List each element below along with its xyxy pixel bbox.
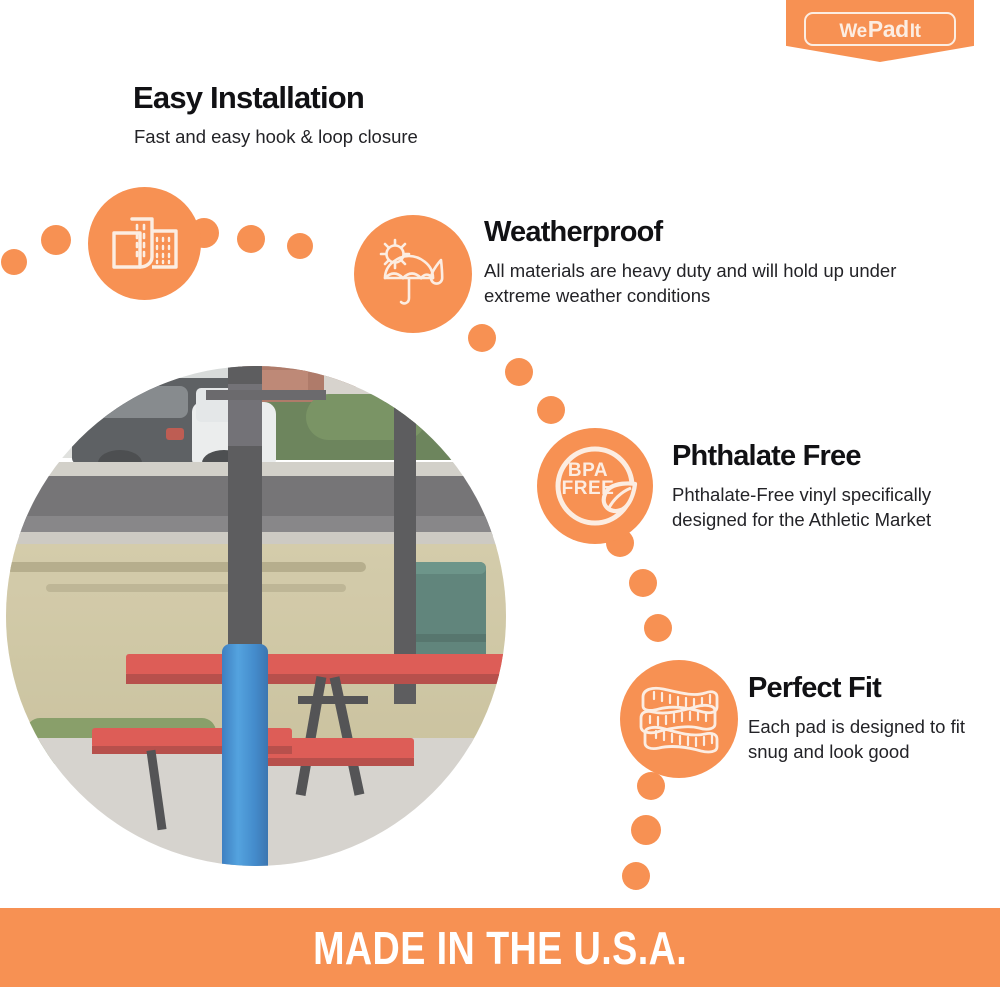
feature-description-weatherproof: All materials are heavy duty and will ho… <box>484 258 904 308</box>
connector-dot <box>637 772 665 800</box>
connector-dot <box>644 614 672 642</box>
infographic-root: We Pad It Easy Installation Fast and eas… <box>0 0 1000 987</box>
connector-dot <box>237 225 265 253</box>
made-in-usa-banner: MADE IN THE U.S.A. <box>0 908 1000 987</box>
logo-text-we: We <box>839 21 866 43</box>
product-photo-pole-pad <box>6 366 506 866</box>
made-in-usa-text: MADE IN THE U.S.A. <box>313 921 687 975</box>
logo-text-pad: Pad <box>868 16 909 43</box>
connector-dot <box>622 862 650 890</box>
bpa-icon-label: BPA FREE <box>549 462 627 499</box>
connector-dot <box>631 815 661 845</box>
connector-dot <box>287 233 313 259</box>
logo-wordmark: We Pad It <box>839 16 920 43</box>
brand-logo[interactable]: We Pad It <box>786 0 974 62</box>
connector-dot <box>468 324 496 352</box>
connector-dot <box>41 225 71 255</box>
connector-dot <box>629 569 657 597</box>
connector-dot <box>505 358 533 386</box>
feature-title-easy-installation: Easy Installation <box>133 80 364 116</box>
feature-description-phthalate-free: Phthalate-Free vinyl specifically design… <box>672 482 940 532</box>
feature-icon-perfect-fit <box>620 660 738 778</box>
logo-text-it: It <box>910 21 921 43</box>
feature-icon-phthalate-free: BPA FREE <box>537 428 653 544</box>
hook-and-loop-strap-icon <box>110 213 180 275</box>
bpa-line-2: FREE <box>562 478 615 499</box>
connector-dot <box>537 396 565 424</box>
feature-description-perfect-fit: Each pad is designed to fit snug and loo… <box>748 714 978 764</box>
logo-border-box: We Pad It <box>804 12 956 46</box>
feature-icon-easy-installation <box>88 187 201 300</box>
feature-description-easy-installation: Fast and easy hook & loop closure <box>134 124 554 149</box>
feature-title-phthalate-free: Phthalate Free <box>672 440 861 473</box>
feature-title-weatherproof: Weatherproof <box>484 216 662 249</box>
measuring-tape-icon <box>637 681 721 757</box>
feature-icon-weatherproof <box>354 215 472 333</box>
bpa-free-leaf-icon: BPA FREE <box>549 440 641 532</box>
sun-umbrella-raindrop-icon <box>373 238 453 310</box>
connector-dot <box>1 249 27 275</box>
feature-title-perfect-fit: Perfect Fit <box>748 672 881 705</box>
